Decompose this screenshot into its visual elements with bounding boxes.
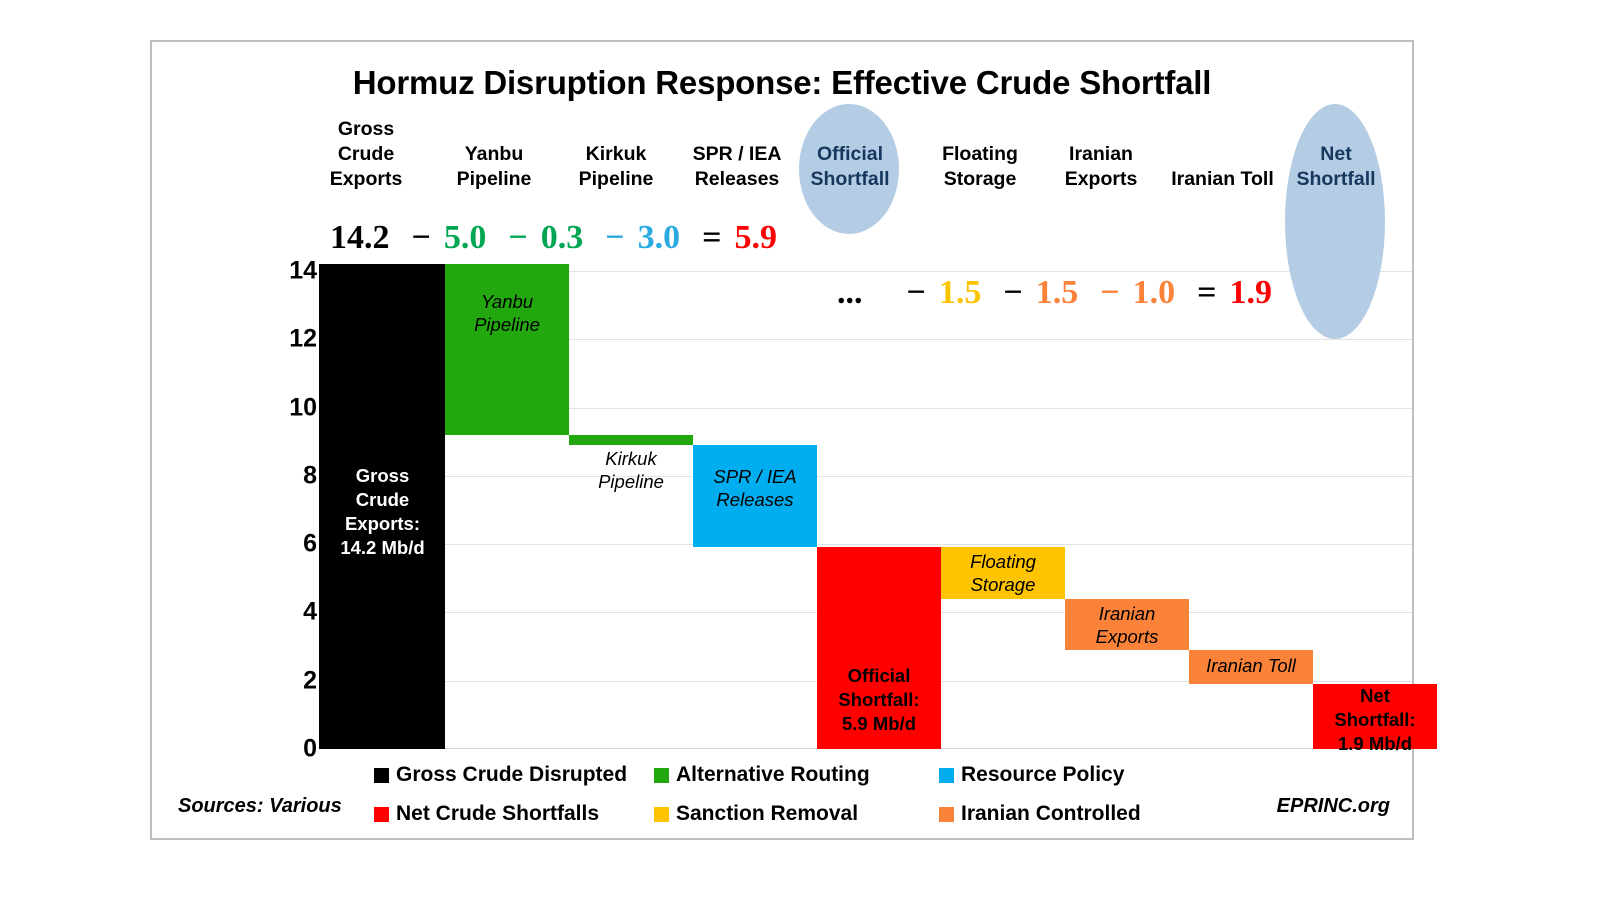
equation-term: 14.2 [330, 219, 390, 257]
bar-spr-iea-releases[interactable]: SPR / IEA Releases [693, 445, 817, 547]
gridline-8 [320, 476, 1412, 477]
equation-row-1: 14.2−5.0−0.3−3.0=5.9 [330, 219, 777, 257]
equation-operator: − [1003, 274, 1022, 312]
bar-label-line: Gross [320, 464, 445, 488]
y-tick-label: 4 [257, 598, 317, 627]
column-header-iranian-toll: Iranian Toll [1155, 167, 1290, 192]
y-tick-label: 6 [257, 530, 317, 559]
plot-area: Million barrels per day 14 12 10 8 6 4 2… [320, 264, 1412, 749]
bar-label-line: Iranian [1065, 602, 1189, 625]
bar-iranian-exports[interactable]: Iranian Exports [1065, 599, 1189, 650]
bar-label-line: Shortfall: [1313, 708, 1437, 732]
equation-operator: − [508, 219, 527, 257]
bar-label-line: Official [817, 664, 941, 688]
col-head-line: Storage [916, 167, 1044, 192]
legend-swatch-icon [654, 807, 669, 822]
legend-row-1: Gross Crude Disrupted Alternative Routin… [374, 757, 1394, 793]
col-head-line: Kirkuk [552, 142, 680, 167]
bar-label-line: Crude [320, 488, 445, 512]
equation-result: 5.9 [735, 219, 778, 257]
legend-swatch-icon [939, 807, 954, 822]
col-head-line: Releases [673, 167, 801, 192]
bar-label-line: 5.9 Mb/d [817, 712, 941, 736]
y-tick-label: 10 [257, 393, 317, 422]
bar-label-line: Releases [693, 488, 817, 511]
bar-iranian-toll[interactable]: Iranian Toll [1189, 650, 1313, 684]
col-head-line: SPR / IEA [673, 142, 801, 167]
legend-label: Net Crude Shortfalls [396, 802, 599, 826]
legend-label: Gross Crude Disrupted [396, 763, 627, 787]
bar-label-net-shortfall: Net Shortfall: 1.9 Mb/d [1313, 684, 1437, 756]
bar-label-line: Iranian Toll [1189, 654, 1313, 677]
column-header-floating-storage: Floating Storage [916, 142, 1044, 192]
legend-swatch-icon [374, 807, 389, 822]
equation-term: ... [837, 274, 863, 312]
y-tick-label: 14 [257, 256, 317, 285]
legend-label: Sanction Removal [676, 802, 858, 826]
legend-swatch-icon [939, 768, 954, 783]
bar-label-line: Pipeline [569, 470, 693, 493]
bar-label-line: SPR / IEA [693, 465, 817, 488]
equation-term: 3.0 [638, 219, 681, 257]
bar-label-line: Yanbu [445, 290, 569, 313]
col-head-line: Gross [302, 117, 430, 142]
col-head-line: Crude [302, 142, 430, 167]
bar-label-line: Shortfall: [817, 688, 941, 712]
equation-term: 0.3 [541, 219, 584, 257]
equation-result: 1.9 [1230, 274, 1273, 312]
col-head-line: Yanbu [430, 142, 558, 167]
col-head-line: Floating [916, 142, 1044, 167]
bar-label-line: Floating [941, 550, 1065, 573]
y-tick-label: 2 [257, 666, 317, 695]
chart-card: Hormuz Disruption Response: Effective Cr… [150, 40, 1414, 840]
col-head-line: Pipeline [430, 167, 558, 192]
legend-item-gross-crude-disrupted[interactable]: Gross Crude Disrupted [374, 763, 627, 787]
col-head-line: Official [790, 142, 910, 167]
bar-label-line: 14.2 Mb/d [320, 536, 445, 560]
equation-operator: − [907, 274, 926, 312]
legend-item-sanction-removal[interactable]: Sanction Removal [654, 802, 858, 826]
col-head-line: Iranian Toll [1155, 167, 1290, 192]
sources-note: Sources: Various [178, 795, 342, 818]
equation-term: 1.5 [1036, 274, 1079, 312]
y-tick-label: 0 [257, 734, 317, 763]
col-head-line: Iranian [1037, 142, 1165, 167]
bar-label-iranian-toll: Iranian Toll [1189, 654, 1313, 677]
legend-label: Resource Policy [961, 763, 1124, 787]
gridline-6 [320, 544, 1412, 545]
legend-label: Iranian Controlled [961, 802, 1141, 826]
bar-label-line: Exports [1065, 625, 1189, 648]
bar-label-line: 1.9 Mb/d [1313, 732, 1437, 756]
legend-item-iranian-controlled[interactable]: Iranian Controlled [939, 802, 1141, 826]
equation-term: 1.5 [939, 274, 982, 312]
col-head-line: Exports [302, 167, 430, 192]
legend-item-alternative-routing[interactable]: Alternative Routing [654, 763, 870, 787]
equation-term: 1.0 [1133, 274, 1176, 312]
bar-label-iranian-exports: Iranian Exports [1065, 602, 1189, 648]
bar-label-gross-crude-exports: Gross Crude Exports: 14.2 Mb/d [320, 464, 445, 560]
legend-swatch-icon [374, 768, 389, 783]
bar-yanbu-pipeline[interactable]: Yanbu Pipeline [445, 264, 569, 435]
slide-canvas: Hormuz Disruption Response: Effective Cr… [0, 0, 1600, 900]
page-title: Hormuz Disruption Response: Effective Cr… [152, 64, 1412, 102]
legend-item-resource-policy[interactable]: Resource Policy [939, 763, 1124, 787]
bar-label-line: Pipeline [445, 313, 569, 336]
bar-label-official-shortfall: Official Shortfall: 5.9 Mb/d [817, 664, 941, 736]
column-header-yanbu-pipeline: Yanbu Pipeline [430, 142, 558, 192]
column-header-spr-iea-releases: SPR / IEA Releases [673, 142, 801, 192]
y-tick-label: 8 [257, 461, 317, 490]
bar-kirkuk-pipeline[interactable] [569, 435, 693, 445]
equation-row-2: ...−1.5−1.5−1.0=1.9 [837, 274, 1272, 312]
equation-operator: = [1197, 274, 1216, 312]
col-head-line: Shortfall [790, 167, 910, 192]
col-head-line: Shortfall [1276, 167, 1396, 192]
bar-official-shortfall[interactable]: Official Shortfall: 5.9 Mb/d [817, 547, 941, 749]
column-header-official-shortfall: Official Shortfall [790, 142, 910, 192]
bar-label-kirkuk-pipeline: Kirkuk Pipeline [569, 447, 693, 493]
legend-swatch-icon [654, 768, 669, 783]
equation-term: 5.0 [444, 219, 487, 257]
col-head-line: Exports [1037, 167, 1165, 192]
equation-operator: − [1100, 274, 1119, 312]
legend-item-net-crude-shortfalls[interactable]: Net Crude Shortfalls [374, 802, 599, 826]
bar-gross-crude-exports[interactable]: Gross Crude Exports: 14.2 Mb/d [320, 264, 445, 749]
bar-label-line: Net [1313, 684, 1437, 708]
column-header-gross-crude-exports: Gross Crude Exports [302, 117, 430, 192]
bar-label-floating-storage: Floating Storage [941, 550, 1065, 596]
bar-label-line: Kirkuk [569, 447, 693, 470]
bar-label-yanbu-pipeline: Yanbu Pipeline [445, 290, 569, 336]
bar-label-line: Storage [941, 573, 1065, 596]
chart-legend: Gross Crude Disrupted Alternative Routin… [374, 757, 1394, 835]
equation-operator: − [412, 219, 431, 257]
equation-operator: − [605, 219, 624, 257]
legend-label: Alternative Routing [676, 763, 870, 787]
bar-label-spr-iea-releases: SPR / IEA Releases [693, 465, 817, 511]
column-header-net-shortfall: Net Shortfall [1276, 142, 1396, 192]
col-head-line: Pipeline [552, 167, 680, 192]
bar-floating-storage[interactable]: Floating Storage [941, 547, 1065, 598]
bar-net-shortfall[interactable]: Net Shortfall: 1.9 Mb/d [1313, 684, 1437, 749]
equation-operator: = [702, 219, 721, 257]
y-tick-label: 12 [257, 325, 317, 354]
legend-row-2: Net Crude Shortfalls Sanction Removal Ir… [374, 796, 1394, 832]
bar-label-line: Exports: [320, 512, 445, 536]
net-shortfall-ellipse [1285, 104, 1385, 339]
column-header-kirkuk-pipeline: Kirkuk Pipeline [552, 142, 680, 192]
column-header-iranian-exports: Iranian Exports [1037, 142, 1165, 192]
col-head-line: Net [1276, 142, 1396, 167]
